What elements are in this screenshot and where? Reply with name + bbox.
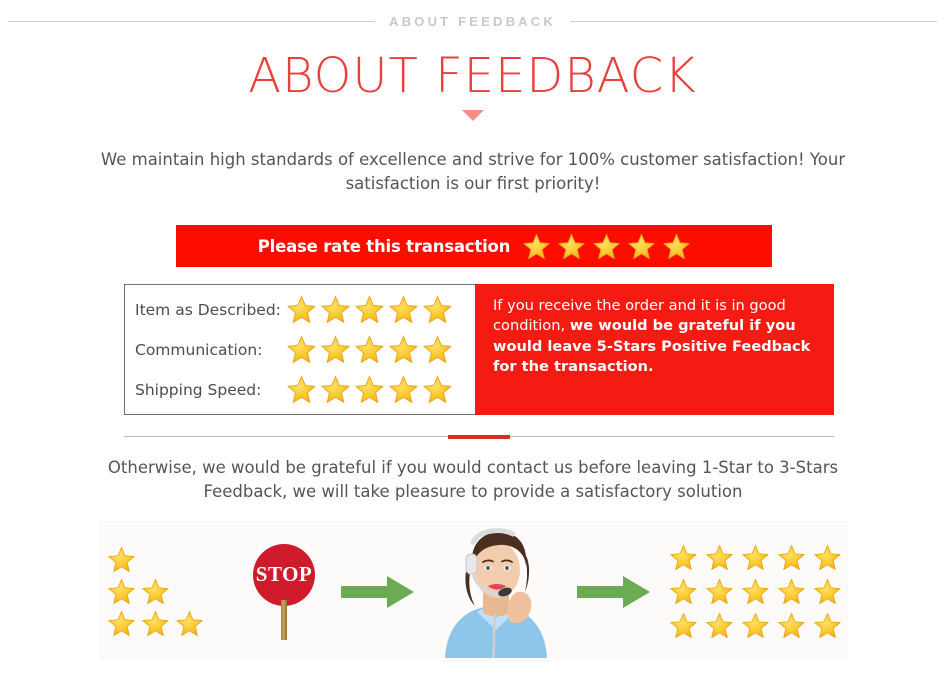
- positive-feedback-note: If you receive the order and it is in go…: [475, 284, 834, 415]
- star-icon: [670, 612, 697, 639]
- star-icon: [287, 335, 316, 364]
- stop-sign: STOP: [238, 544, 330, 640]
- star-icon: [814, 544, 841, 571]
- stop-sign-label: STOP: [256, 562, 312, 587]
- star-icon: [778, 578, 805, 605]
- star-icon: [423, 375, 452, 404]
- arrow-right-icon-2: [566, 575, 662, 609]
- star-icon: [814, 578, 841, 605]
- star-icon: [142, 578, 169, 605]
- star-icon: [814, 612, 841, 639]
- rating-stars[interactable]: [287, 375, 452, 404]
- star-icon: [558, 233, 585, 260]
- rate-transaction-label: Please rate this transaction: [258, 237, 510, 256]
- star-icon: [321, 335, 350, 364]
- rating-label: Shipping Speed:: [135, 381, 287, 399]
- star-icon: [628, 233, 655, 260]
- star-icon: [523, 233, 550, 260]
- star-row: [108, 578, 238, 605]
- rate-transaction-bar: Please rate this transaction: [176, 225, 772, 267]
- feedback-process-illustration: STOP: [98, 521, 848, 662]
- rating-label: Communication:: [135, 341, 287, 359]
- star-icon: [142, 610, 169, 637]
- intro-paragraph: We maintain high standards of excellence…: [92, 148, 854, 196]
- eyebrow-label: ABOUT FEEDBACK: [389, 14, 556, 29]
- arrow-right-icon-1: [330, 575, 426, 609]
- rating-stars[interactable]: [287, 335, 452, 364]
- triangle-down-icon: [462, 110, 484, 121]
- star-icon: [321, 375, 350, 404]
- rating-row: Item as Described:: [135, 290, 475, 330]
- star-icon: [423, 335, 452, 364]
- star-icon: [355, 375, 384, 404]
- star-icon: [389, 335, 418, 364]
- star-icon: [742, 578, 769, 605]
- divider-accent: [448, 435, 510, 439]
- high-rating-stars: [662, 544, 848, 639]
- eyebrow-header: ABOUT FEEDBACK: [0, 14, 945, 29]
- star-icon: [287, 295, 316, 324]
- rating-criteria-table: Item as Described:Communication:Shipping…: [124, 284, 475, 415]
- star-icon: [742, 544, 769, 571]
- star-icon: [706, 578, 733, 605]
- eyebrow-rule-right: [570, 21, 937, 22]
- rate-transaction-stars[interactable]: [523, 233, 690, 260]
- rating-stars[interactable]: [287, 295, 452, 324]
- star-icon: [108, 546, 135, 573]
- star-icon: [321, 295, 350, 324]
- star-icon: [778, 544, 805, 571]
- star-icon: [706, 612, 733, 639]
- star-icon: [706, 544, 733, 571]
- stop-sign-icon: STOP: [253, 544, 315, 606]
- star-row: [108, 610, 238, 637]
- star-icon: [108, 578, 135, 605]
- star-icon: [176, 610, 203, 637]
- rating-label: Item as Described:: [135, 301, 287, 319]
- star-row: [670, 578, 841, 605]
- section-divider: [124, 435, 834, 439]
- star-icon: [670, 544, 697, 571]
- star-icon: [389, 375, 418, 404]
- support-agent-photo: [426, 526, 566, 658]
- star-icon: [108, 610, 135, 637]
- low-rating-stars: [108, 546, 238, 637]
- star-icon: [670, 578, 697, 605]
- star-icon: [355, 295, 384, 324]
- page-title: ABOUT FEEDBACK: [0, 52, 945, 100]
- star-icon: [287, 375, 316, 404]
- star-icon: [355, 335, 384, 364]
- rating-row: Shipping Speed:: [135, 370, 475, 410]
- star-icon: [593, 233, 620, 260]
- rating-row: Communication:: [135, 330, 475, 370]
- rating-block: Item as Described:Communication:Shipping…: [124, 284, 834, 415]
- star-row: [670, 612, 841, 639]
- star-row: [108, 546, 238, 573]
- star-icon: [778, 612, 805, 639]
- star-icon: [742, 612, 769, 639]
- eyebrow-rule-left: [8, 21, 375, 22]
- star-icon: [663, 233, 690, 260]
- star-icon: [389, 295, 418, 324]
- outro-paragraph: Otherwise, we would be grateful if you w…: [92, 456, 854, 504]
- stop-sign-post: [281, 600, 287, 640]
- feedback-banner: ABOUT FEEDBACK ABOUT FEEDBACK We maintai…: [0, 0, 945, 700]
- star-row: [670, 544, 841, 571]
- star-icon: [423, 295, 452, 324]
